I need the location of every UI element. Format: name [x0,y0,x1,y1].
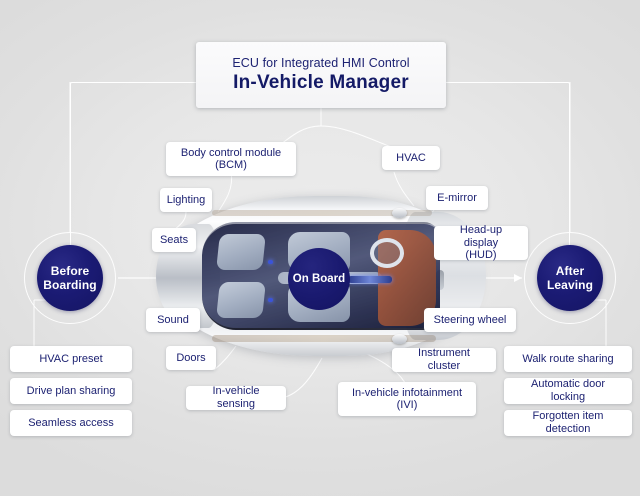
on-board-label: On Board [293,273,345,285]
chip-body-control-module[interactable]: Body control module (BCM) [166,142,296,176]
chip-forgotten-item-detection[interactable]: Forgotten item detection [504,410,632,436]
on-board-node[interactable]: On Board [288,248,350,310]
chip-sound[interactable]: Sound [146,308,200,332]
header-subtitle: ECU for Integrated HMI Control [232,56,409,70]
chip-instrument-cluster[interactable]: Instrument cluster [392,348,496,372]
ivi-display [348,276,392,283]
side-mirror-icon [392,334,407,344]
chip-automatic-door-locking[interactable]: Automatic door locking [504,378,632,404]
header-card: ECU for Integrated HMI Control In-Vehicl… [196,42,446,108]
endpoint-after-leaving[interactable]: After Leaving [524,232,616,324]
diagram-canvas: ECU for Integrated HMI Control In-Vehicl… [0,0,640,496]
endpoint-disc: Before Boarding [37,245,103,311]
sensor-led-icon [268,298,273,302]
chip-seats[interactable]: Seats [152,228,196,252]
rear-left-seat [216,234,266,270]
endpoint-label: After Leaving [537,264,603,292]
chip-head-up-display[interactable]: Head-up display (HUD) [434,226,528,260]
endpoint-disc: After Leaving [537,245,603,311]
chip-seamless-access[interactable]: Seamless access [10,410,132,436]
sensor-led-icon [268,260,273,264]
chip-lighting[interactable]: Lighting [160,188,212,212]
chip-walk-route-sharing[interactable]: Walk route sharing [504,346,632,372]
rear-right-seat [216,282,266,318]
chip-steering-wheel[interactable]: Steering wheel [424,308,516,332]
chip-drive-plan-sharing[interactable]: Drive plan sharing [10,378,132,404]
steering-wheel-icon [370,238,404,268]
endpoint-label: Before Boarding [37,264,103,292]
chip-hvac[interactable]: HVAC [382,146,440,170]
side-mirror-icon [392,208,407,218]
endpoint-before-boarding[interactable]: Before Boarding [24,232,116,324]
chip-hvac-preset[interactable]: HVAC preset [10,346,132,372]
chip-in-vehicle-sensing[interactable]: In-vehicle sensing [186,386,286,410]
page-title: In-Vehicle Manager [233,72,409,94]
chip-doors[interactable]: Doors [166,346,216,370]
chip-in-vehicle-infotainment[interactable]: In-vehicle infotainment (IVI) [338,382,476,416]
chip-e-mirror[interactable]: E-mirror [426,186,488,210]
